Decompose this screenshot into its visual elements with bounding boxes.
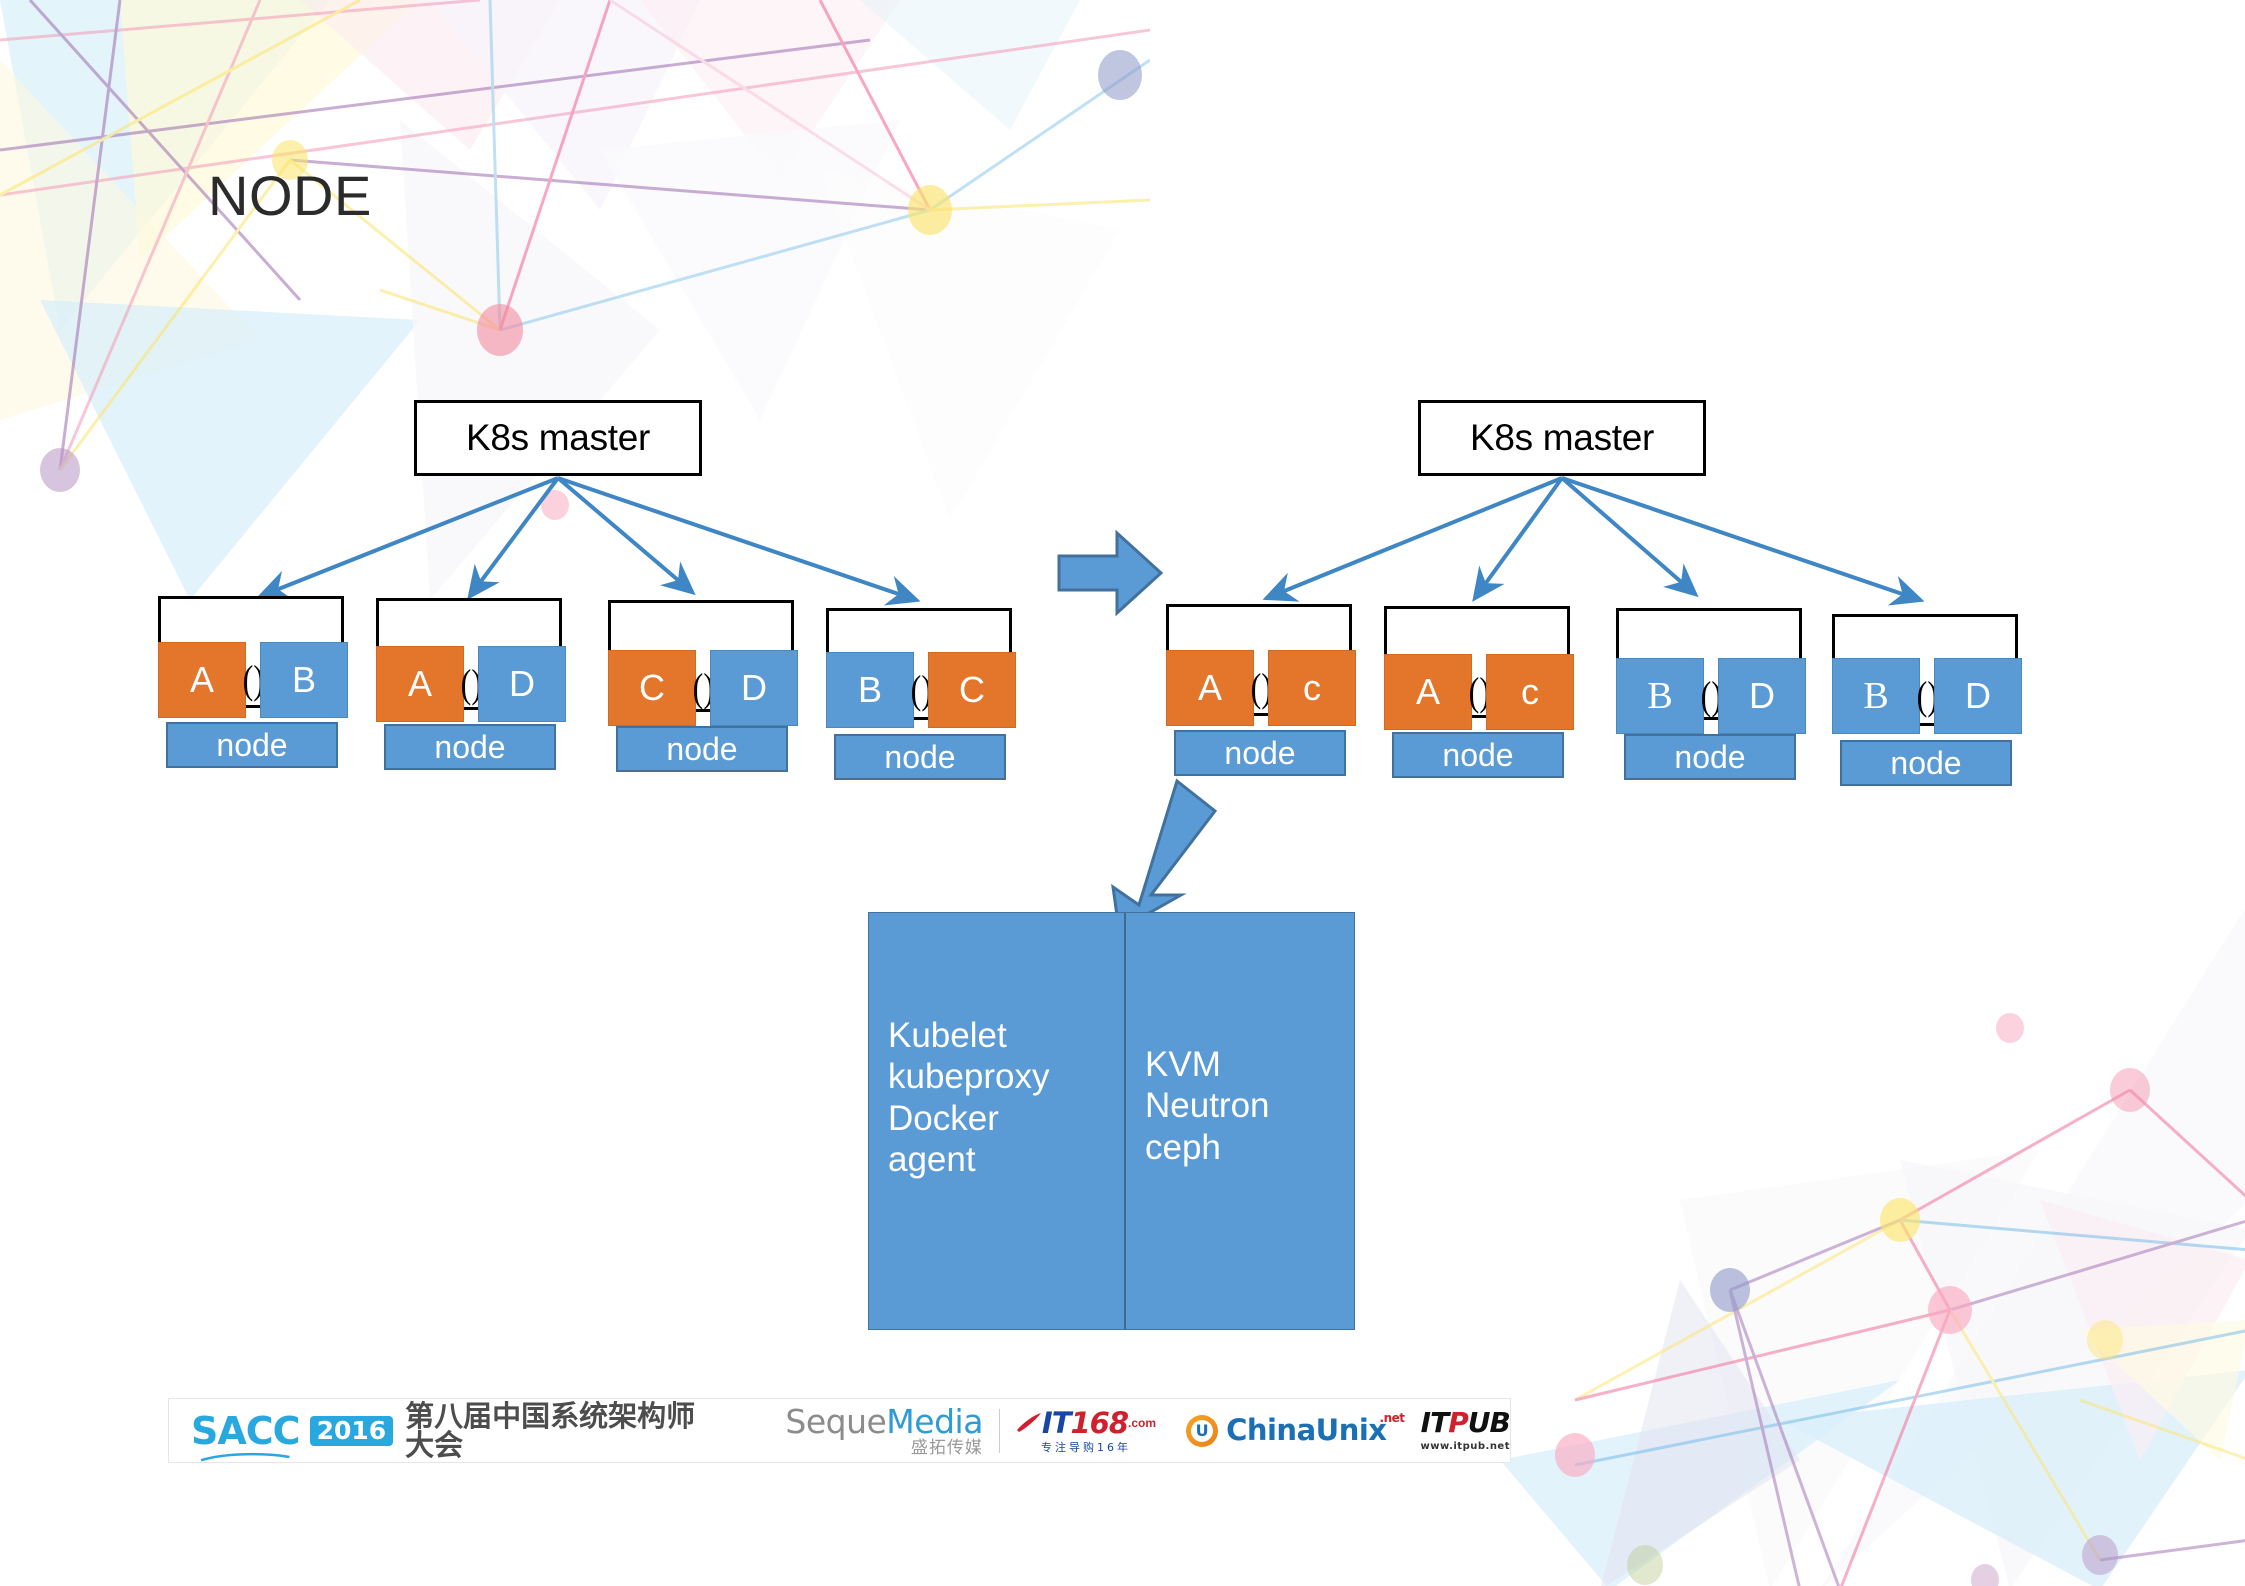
detail-line: ceph xyxy=(1145,1127,1373,1168)
node-label-text: node xyxy=(666,733,737,765)
pod-label: c xyxy=(1521,674,1539,710)
pod-box[interactable]: c xyxy=(1486,654,1574,730)
node-label-text: node xyxy=(1890,747,1961,779)
sacc-wordmark: SACC xyxy=(191,1412,300,1450)
detail-line: KVM xyxy=(1145,1044,1373,1085)
pod-connector: () xyxy=(1472,654,1486,730)
it168-prefix: IT xyxy=(1042,1409,1071,1438)
detail-column-kubernetes: Kubelet kubeproxy Docker agent xyxy=(869,913,1126,1329)
sacc-year-badge: 2016 xyxy=(310,1416,394,1446)
logo-divider xyxy=(999,1409,1000,1453)
pod-box[interactable]: D xyxy=(710,650,798,726)
pod-box[interactable]: C xyxy=(928,652,1016,728)
pod-connector: () xyxy=(1704,658,1718,734)
pod-label: A xyxy=(408,666,432,702)
node-label-text: node xyxy=(1224,737,1295,769)
sequemedia-chinese: 盛拓传媒 xyxy=(911,1440,983,1457)
pod-row: A () c xyxy=(1384,654,1574,730)
pod-row: C () D xyxy=(608,650,798,726)
itpub-wordmark: ITPUB xyxy=(1421,1409,1510,1437)
node-label-box[interactable]: node xyxy=(834,734,1006,780)
itpub-url: www.itpub.net xyxy=(1421,1442,1511,1452)
drill-down-arrow-icon xyxy=(1085,775,1245,935)
arrow-right-4 xyxy=(1562,478,1920,600)
node-label-text: node xyxy=(1674,741,1745,773)
chinaunix-mark-letter: U xyxy=(1191,1420,1213,1442)
sponsor-logo-bar: SACC 2016 第八届中国系统架构师大会 SequeMedia 盛拓传媒 xyxy=(168,1398,1511,1463)
pod-label: D xyxy=(509,666,535,702)
sequemedia-logo: SequeMedia 盛拓传媒 IT 168 .com 专注导购16年 xyxy=(785,1405,1156,1457)
pod-label: B xyxy=(1863,677,1888,715)
pod-box[interactable]: D xyxy=(1934,658,2022,734)
it168-swoosh-icon xyxy=(1016,1412,1042,1434)
pod-box[interactable]: B xyxy=(1832,658,1920,734)
chinaunix-wordmark: ChinaUnix .net xyxy=(1226,1416,1386,1445)
seque-name-gray: Seque xyxy=(785,1402,886,1441)
detail-line: kubeproxy xyxy=(888,1056,1143,1097)
pod-box[interactable]: B xyxy=(260,642,348,718)
it168-tagline: 专注导购16年 xyxy=(1041,1442,1131,1453)
seque-name-blue: Media xyxy=(886,1402,983,1441)
it168-number: 168 xyxy=(1071,1409,1129,1438)
sacc-word-text: SACC xyxy=(191,1409,300,1453)
pod-label: D xyxy=(741,670,767,706)
arrow-left-3 xyxy=(558,478,692,592)
detail-line: Neutron xyxy=(1145,1085,1373,1126)
node-label-box[interactable]: node xyxy=(1392,732,1564,778)
detail-lines-right: KVM Neutron ceph xyxy=(1145,1044,1373,1168)
detail-line: agent xyxy=(888,1139,1143,1180)
pod-box[interactable]: A xyxy=(1166,650,1254,726)
pod-label: C xyxy=(959,672,985,708)
chinaunix-name: ChinaUnix xyxy=(1226,1413,1386,1447)
pod-label: B xyxy=(858,672,882,708)
node-label-box[interactable]: node xyxy=(1840,740,2012,786)
node-label-box[interactable]: node xyxy=(166,722,338,768)
detail-lines-left: Kubelet kubeproxy Docker agent xyxy=(888,1015,1143,1180)
node-label-text: node xyxy=(884,741,955,773)
node-label-box[interactable]: node xyxy=(616,726,788,772)
pod-box[interactable]: C xyxy=(608,650,696,726)
chinaunix-tld: .net xyxy=(1380,1412,1405,1424)
detail-line: Kubelet xyxy=(888,1015,1143,1056)
pod-row: B () C xyxy=(826,652,1016,728)
pod-connector: () xyxy=(696,650,710,726)
pod-label: B xyxy=(292,662,316,698)
itpub-logo: ITPUB www.itpub.net xyxy=(1421,1409,1511,1452)
sacc-swoosh-icon xyxy=(191,1452,300,1462)
pod-box[interactable]: A xyxy=(158,642,246,718)
node-label-text: node xyxy=(1442,739,1513,771)
node-label-text: node xyxy=(434,731,505,763)
itpub-it: IT xyxy=(1421,1406,1449,1439)
sacc-chinese-title: 第八届中国系统架构师大会 xyxy=(405,1402,717,1460)
pod-label: B xyxy=(1647,677,1672,715)
pod-label: D xyxy=(1965,678,1991,714)
node-label-box[interactable]: node xyxy=(384,724,556,770)
chinaunix-logo: U ChinaUnix .net xyxy=(1186,1415,1386,1447)
arrow-right-3 xyxy=(1562,478,1695,594)
pod-label: A xyxy=(1416,674,1440,710)
pod-label: c xyxy=(1303,670,1321,706)
pod-label: D xyxy=(1749,678,1775,714)
pod-label: A xyxy=(190,662,214,698)
node-label-box[interactable]: node xyxy=(1624,734,1796,780)
arrow-left-4 xyxy=(558,478,916,600)
node-detail-panel[interactable]: Kubelet kubeproxy Docker agent KVM Neutr… xyxy=(868,912,1355,1330)
pod-row: A () B xyxy=(158,642,348,718)
pod-row: A () c xyxy=(1166,650,1356,726)
pod-box[interactable]: c xyxy=(1268,650,1356,726)
pod-row: B () D xyxy=(1616,658,1806,734)
it168-logo: IT 168 .com 专注导购16年 xyxy=(1016,1409,1156,1453)
sacc-logo: SACC 2016 第八届中国系统架构师大会 xyxy=(191,1402,717,1460)
pod-connector: () xyxy=(914,652,928,728)
node-label-text: node xyxy=(216,729,287,761)
pod-connector: () xyxy=(1920,658,1934,734)
sequemedia-wordmark: SequeMedia xyxy=(785,1405,983,1438)
pod-box[interactable]: D xyxy=(478,646,566,722)
chinaunix-mark-icon: U xyxy=(1186,1415,1218,1447)
pod-connector: () xyxy=(1254,650,1268,726)
pod-row: B () D xyxy=(1832,658,2022,734)
transition-right-arrow-icon xyxy=(1055,528,1165,618)
pod-label: A xyxy=(1198,670,1222,706)
itpub-ub: UB xyxy=(1468,1406,1510,1439)
node-label-box[interactable]: node xyxy=(1174,730,1346,776)
pod-connector: () xyxy=(464,646,478,722)
pod-box[interactable]: B xyxy=(826,652,914,728)
pod-box[interactable]: D xyxy=(1718,658,1806,734)
it168-suffix: .com xyxy=(1128,1417,1156,1429)
pod-row: A () D xyxy=(376,646,566,722)
itpub-p: P xyxy=(1448,1406,1468,1439)
detail-line: Docker xyxy=(888,1098,1143,1139)
pod-label: C xyxy=(639,670,665,706)
pod-box[interactable]: B xyxy=(1616,658,1704,734)
pod-box[interactable]: A xyxy=(376,646,464,722)
pod-box[interactable]: A xyxy=(1384,654,1472,730)
slide-canvas: NODE K8s master K8s master xyxy=(0,0,2245,1586)
detail-column-openstack: KVM Neutron ceph xyxy=(1126,913,1354,1329)
pod-connector: () xyxy=(246,642,260,718)
